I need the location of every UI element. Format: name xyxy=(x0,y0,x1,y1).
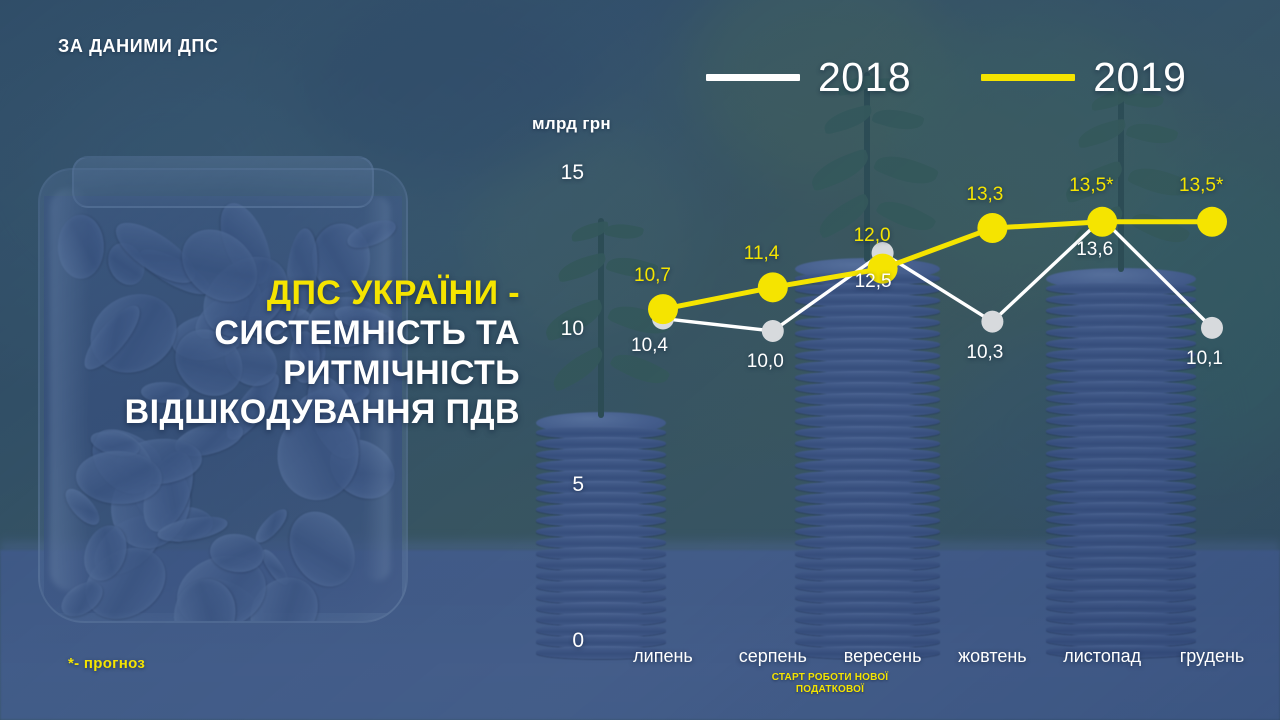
data-point-2019 xyxy=(1197,207,1227,237)
label-2018-липень: 10,4 xyxy=(631,335,668,357)
page-title: ДПС УКРАЇНИ - СИСТЕМНІСТЬ ТА РИТМІЧНІСТЬ… xyxy=(0,274,528,433)
legend-label-2019: 2019 xyxy=(1093,54,1186,101)
infographic-slide: ЗА ДАНИМИ ДПС 2018 2019 ДПС УКРАЇНИ - СИ… xyxy=(0,0,1280,720)
foreground-content: ЗА ДАНИМИ ДПС 2018 2019 ДПС УКРАЇНИ - СИ… xyxy=(0,0,1280,720)
x-axis-tick: листопад xyxy=(1042,646,1162,667)
data-point-2019 xyxy=(1087,207,1117,237)
legend-swatch-2018 xyxy=(706,74,800,81)
label-2018-жовтень: 10,3 xyxy=(966,342,1003,364)
label-2018-грудень: 10,1 xyxy=(1186,348,1223,370)
label-2018-листопад: 13,6 xyxy=(1076,239,1113,261)
title-line-1: СИСТЕМНІСТЬ ТА xyxy=(0,314,520,354)
label-2019-жовтень: 13,3 xyxy=(966,184,1003,206)
chart-legend: 2018 2019 xyxy=(706,54,1186,101)
x-axis-tick: вересень xyxy=(823,646,943,667)
label-2018-серпень: 10,0 xyxy=(747,351,784,373)
x-axis-tick: жовтень xyxy=(932,646,1052,667)
label-2019-липень: 10,7 xyxy=(634,265,671,287)
line-chart: млрд грн 051015 10,711,412,013,313,5*13,… xyxy=(530,100,1280,700)
label-2019-грудень: 13,5* xyxy=(1179,175,1223,197)
series-line xyxy=(663,219,1212,331)
data-point-2019 xyxy=(758,272,788,302)
data-point-2018 xyxy=(762,320,784,342)
data-point-2018 xyxy=(1201,317,1223,339)
x-axis-tick: грудень xyxy=(1152,646,1272,667)
data-point-2018 xyxy=(981,311,1003,333)
forecast-footnote: *- прогноз xyxy=(68,655,145,672)
source-label: ЗА ДАНИМИ ДПС xyxy=(58,36,219,57)
label-2019-серпень: 11,4 xyxy=(744,243,780,265)
label-2019-листопад: 13,5* xyxy=(1069,175,1113,197)
title-accent-line: ДПС УКРАЇНИ - xyxy=(0,274,520,314)
series-line xyxy=(663,222,1212,309)
data-point-2019 xyxy=(977,213,1007,243)
label-2018-вересень: 12,5 xyxy=(855,271,892,293)
title-line-3: ВІДШКОДУВАННЯ ПДВ xyxy=(0,393,520,433)
label-2019-вересень: 12,0 xyxy=(854,225,891,247)
legend-label-2018: 2018 xyxy=(818,54,911,101)
x-axis-tick: серпень xyxy=(713,646,833,667)
title-line-2: РИТМІЧНІСТЬ xyxy=(0,354,520,394)
legend-item-2019: 2019 xyxy=(981,54,1186,101)
legend-item-2018: 2018 xyxy=(706,54,911,101)
legend-swatch-2019 xyxy=(981,74,1075,81)
data-point-2019 xyxy=(648,294,678,324)
x-axis-tick: липень xyxy=(603,646,723,667)
new-tax-service-start-note: СТАРТ РОБОТИ НОВОЇ ПОДАТКОВОЇ xyxy=(770,672,890,696)
chart-plot-area xyxy=(530,100,1280,700)
